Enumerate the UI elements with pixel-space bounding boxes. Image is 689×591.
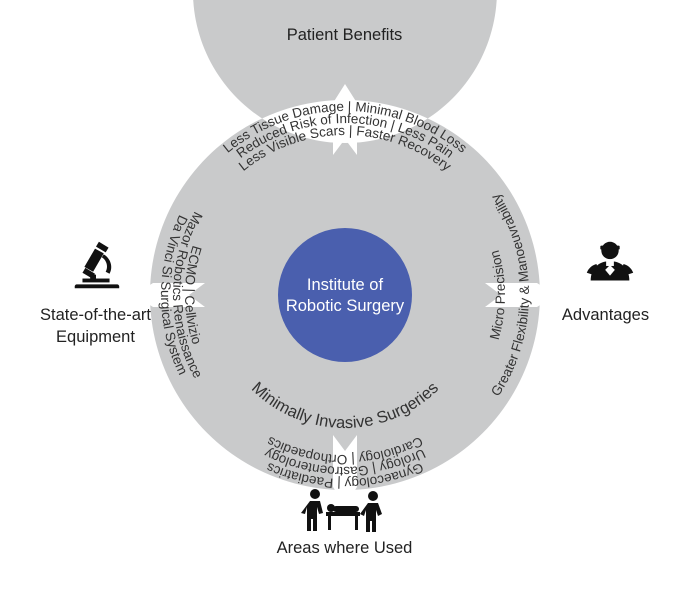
surgery-table-icon <box>300 487 386 539</box>
outer-label-advantages: Advantages <box>528 305 683 327</box>
center-circle: Institute of Robotic Surgery <box>278 228 412 362</box>
outer-label-areas-where-used: Areas where Used <box>0 538 689 560</box>
outer-label-patient-benefits: Patient Benefits <box>0 25 689 47</box>
microscope-icon <box>66 235 126 295</box>
center-title-line2: Robotic Surgery <box>286 297 405 315</box>
surgeon-icon <box>580 235 640 295</box>
center-title-line1: Institute of <box>307 276 384 294</box>
outer-label-state-of-the-art-equipment: State-of-the-art Equipment <box>8 305 183 349</box>
